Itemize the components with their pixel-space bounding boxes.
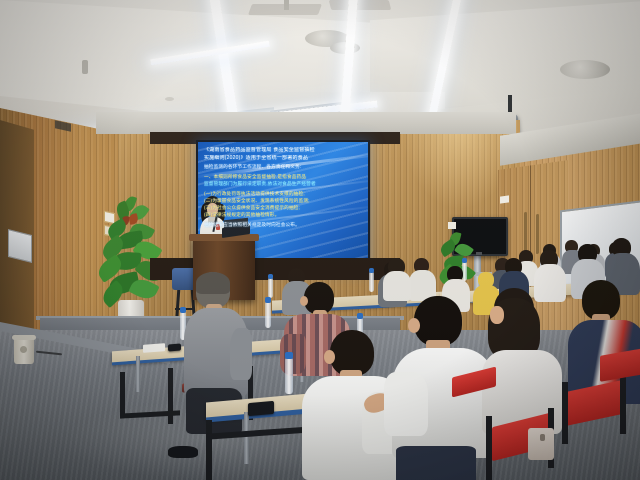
bottle-cap (268, 274, 273, 279)
handbag (528, 428, 554, 460)
recessed-speaker (560, 60, 610, 79)
attendee-head (414, 296, 462, 346)
handbag-clasp (540, 434, 545, 441)
attendee-legs (396, 446, 476, 480)
chair-frame (206, 420, 212, 480)
potted-plant-left (95, 196, 167, 316)
attendee-ear (324, 350, 335, 364)
chair-frame (486, 416, 492, 480)
conference-room-photo: 《湖南省食品药品监督管理局 食品安全监督抽检 实施细则(2020)》适用于全省统… (0, 0, 640, 480)
desk-leg (136, 356, 140, 392)
smartphone (248, 401, 274, 416)
bottle-cap (285, 352, 293, 359)
air-conditioning-vent (329, 0, 391, 10)
attendee-hair (196, 272, 230, 294)
chair-frame (120, 372, 125, 416)
smoke-detector (165, 97, 174, 101)
chair-frame (620, 374, 626, 434)
desk-leg (244, 412, 249, 464)
attendee (484, 288, 566, 428)
attendee-arm (384, 372, 428, 436)
water-bottle (265, 302, 271, 328)
wall-sign (500, 195, 509, 203)
attendee-ear (408, 318, 420, 333)
trash-bin-label (20, 346, 27, 353)
ceiling-soffit (96, 112, 516, 134)
ceiling-fitting (82, 60, 88, 74)
ceiling-fitting (284, 0, 289, 10)
water-bottle (369, 272, 374, 292)
paper-document (143, 343, 165, 353)
trash-bin-lid (12, 335, 36, 340)
wall-control-panel[interactable] (8, 229, 32, 263)
bottle-cap (265, 297, 271, 303)
attendee-arm (230, 328, 252, 380)
water-bottle (285, 358, 293, 394)
water-bottle (268, 278, 273, 298)
bottle-cap (357, 313, 363, 319)
slide-line: 《湖南省食品药品监督管理局 食品安全监督抽检 (204, 147, 362, 155)
smartphone (168, 344, 181, 352)
bottle-cap (462, 258, 467, 263)
tv-logo (476, 252, 482, 255)
wall-sign (448, 222, 456, 229)
attendee-face (490, 306, 504, 324)
chair-frame (562, 382, 568, 444)
attendee-shoe (168, 446, 198, 458)
attendee-ear (300, 296, 308, 306)
bottle-cap (369, 268, 374, 273)
